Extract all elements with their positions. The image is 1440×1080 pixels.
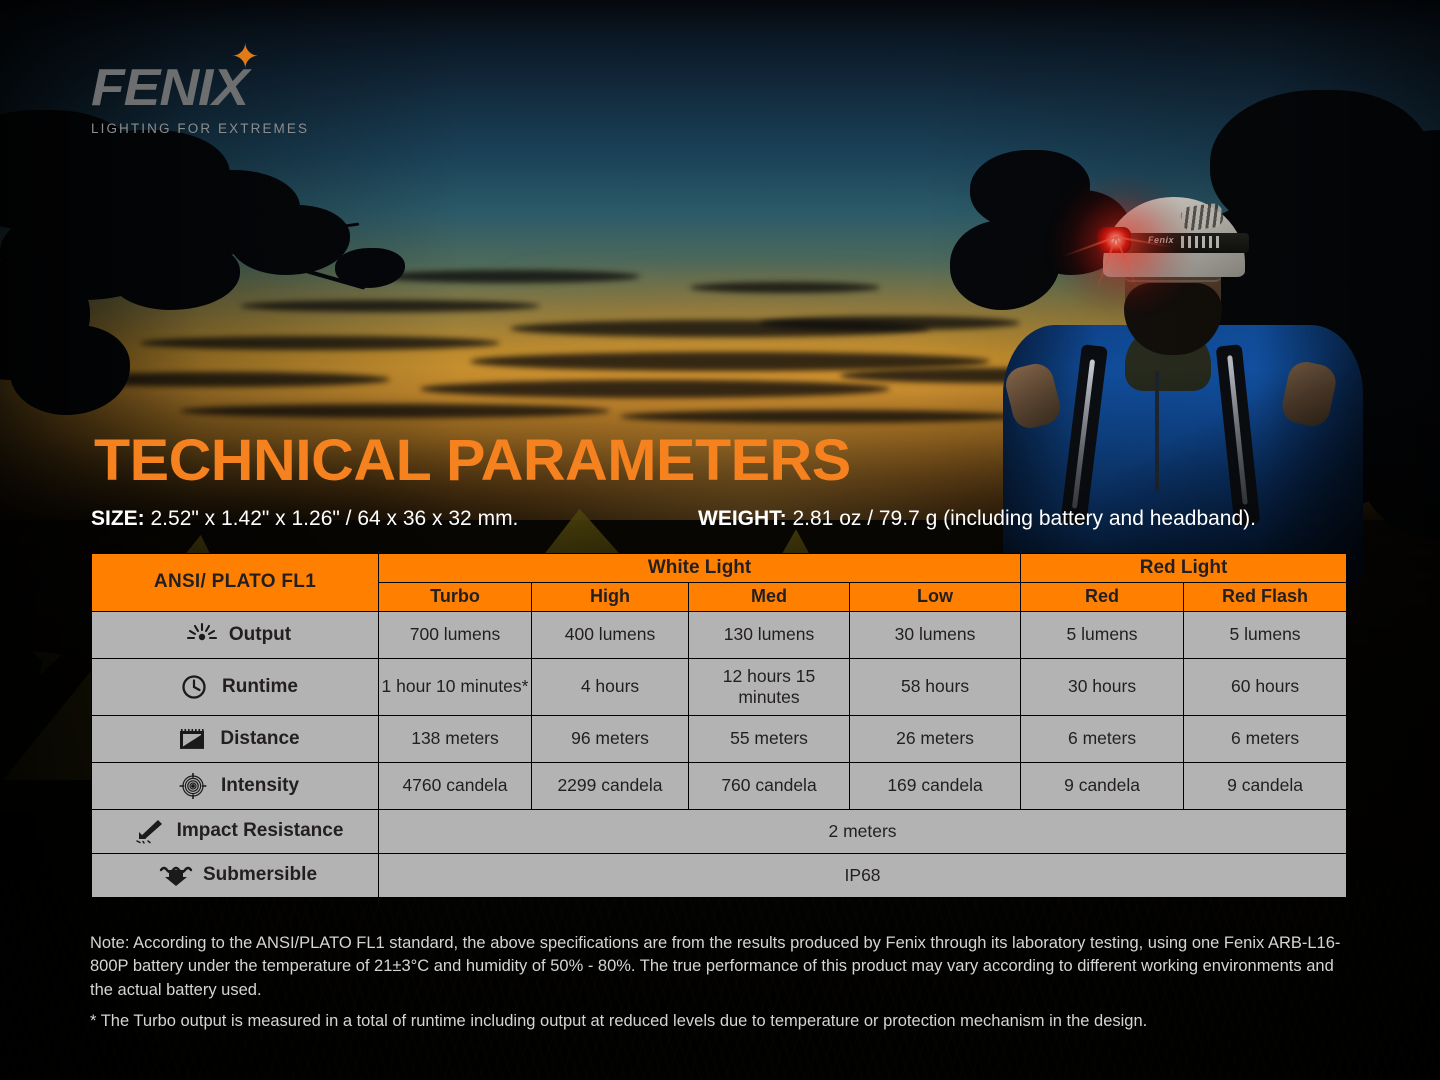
mode-header-turbo: Turbo: [379, 583, 532, 611]
weight-spec: WEIGHT: 2.81 oz / 79.7 g (including batt…: [698, 507, 1256, 531]
footnote: Note: According to the ANSI/PLATO FL1 st…: [90, 932, 1355, 1034]
cell-intensity-red: 9 candela: [1021, 762, 1184, 809]
table-row: Submersible IP68: [92, 853, 1347, 897]
table-row: Output 700 lumens 400 lumens 130 lumens …: [92, 611, 1347, 658]
mode-header-low: Low: [850, 583, 1021, 611]
size-spec: SIZE: 2.52" x 1.42" x 1.26" / 64 x 36 x …: [91, 507, 518, 531]
table-row: Intensity 4760 candela 2299 candela 760 …: [92, 762, 1347, 809]
fenix-logo: FENIX ✦ LIGHTING FOR EXTREMES: [91, 62, 309, 136]
row-label-distance: Distance: [92, 715, 379, 762]
submersible-icon: [159, 862, 193, 888]
poster-content: FENIX ✦ LIGHTING FOR EXTREMES TECHNICAL …: [0, 0, 1440, 1080]
beam-distance-icon: [176, 726, 210, 752]
table-header-groups: ANSI/ PLATO FL1 White Light Red Light: [92, 554, 1347, 583]
size-value: 2.52" x 1.42" x 1.26" / 64 x 36 x 32 mm.: [145, 507, 519, 530]
star-icon: ✦: [231, 40, 265, 74]
logo-wordmark: FENIX: [91, 62, 322, 114]
row-label-impact-resistance: Impact Resistance: [92, 809, 379, 853]
table-row: Impact Resistance 2 meters: [92, 809, 1347, 853]
cell-runtime-turbo: 1 hour 10 minutes*: [379, 658, 532, 715]
mode-header-red-flash: Red Flash: [1184, 583, 1347, 611]
cell-distance-med: 55 meters: [689, 715, 850, 762]
row-label-intensity: Intensity: [92, 762, 379, 809]
cell-output-red: 5 lumens: [1021, 611, 1184, 658]
clock-icon: [178, 674, 212, 700]
cell-distance-red: 6 meters: [1021, 715, 1184, 762]
cell-output-high: 400 lumens: [532, 611, 689, 658]
cell-output-low: 30 lumens: [850, 611, 1021, 658]
row-label-submersible: Submersible: [92, 853, 379, 897]
mode-header-med: Med: [689, 583, 850, 611]
mode-header-high: High: [532, 583, 689, 611]
light-rays-icon: [185, 622, 219, 648]
table-corner-label: ANSI/ PLATO FL1: [92, 554, 379, 612]
cell-intensity-turbo: 4760 candela: [379, 762, 532, 809]
cell-submersible-value: IP68: [379, 853, 1347, 897]
cell-output-med: 130 lumens: [689, 611, 850, 658]
cell-output-red-flash: 5 lumens: [1184, 611, 1347, 658]
group-header-red-light: Red Light: [1021, 554, 1347, 583]
footnote-line-1: Note: According to the ANSI/PLATO FL1 st…: [90, 932, 1355, 1002]
cell-distance-red-flash: 6 meters: [1184, 715, 1347, 762]
cell-runtime-low: 58 hours: [850, 658, 1021, 715]
page-title: TECHNICAL PARAMETERS: [94, 432, 851, 490]
cell-runtime-red: 30 hours: [1021, 658, 1184, 715]
row-label-text: Impact Resistance: [177, 820, 344, 841]
poster-page: ➤ Fenix: [0, 0, 1440, 1080]
row-label-text: Distance: [220, 727, 299, 748]
table-row: Runtime 1 hour 10 minutes* 4 hours 12 ho…: [92, 658, 1347, 715]
row-label-output: Output: [92, 611, 379, 658]
row-label-text: Submersible: [203, 864, 317, 885]
weight-label: WEIGHT:: [698, 507, 787, 530]
row-label-text: Output: [229, 623, 291, 644]
weight-value: 2.81 oz / 79.7 g (including battery and …: [787, 507, 1256, 530]
cell-impact-resistance-value: 2 meters: [379, 809, 1347, 853]
technical-parameters-table: ANSI/ PLATO FL1 White Light Red Light Tu…: [91, 553, 1347, 898]
cell-intensity-med: 760 candela: [689, 762, 850, 809]
size-label: SIZE:: [91, 507, 145, 530]
target-intensity-icon: [177, 773, 211, 799]
cell-distance-turbo: 138 meters: [379, 715, 532, 762]
cell-output-turbo: 700 lumens: [379, 611, 532, 658]
cell-intensity-high: 2299 candela: [532, 762, 689, 809]
cell-runtime-med: 12 hours 15 minutes: [689, 658, 850, 715]
cell-intensity-low: 169 candela: [850, 762, 1021, 809]
table-row: Distance 138 meters 96 meters 55 meters …: [92, 715, 1347, 762]
cell-distance-high: 96 meters: [532, 715, 689, 762]
row-label-text: Intensity: [221, 774, 299, 795]
group-header-white-light: White Light: [379, 554, 1021, 583]
row-label-runtime: Runtime: [92, 658, 379, 715]
mode-header-red: Red: [1021, 583, 1184, 611]
footnote-line-2: * The Turbo output is measured in a tota…: [90, 1010, 1355, 1033]
row-label-text: Runtime: [222, 675, 298, 696]
impact-resistance-icon: [133, 818, 167, 844]
logo-tagline: LIGHTING FOR EXTREMES: [91, 121, 309, 136]
cell-runtime-red-flash: 60 hours: [1184, 658, 1347, 715]
cell-runtime-high: 4 hours: [532, 658, 689, 715]
cell-intensity-red-flash: 9 candela: [1184, 762, 1347, 809]
cell-distance-low: 26 meters: [850, 715, 1021, 762]
